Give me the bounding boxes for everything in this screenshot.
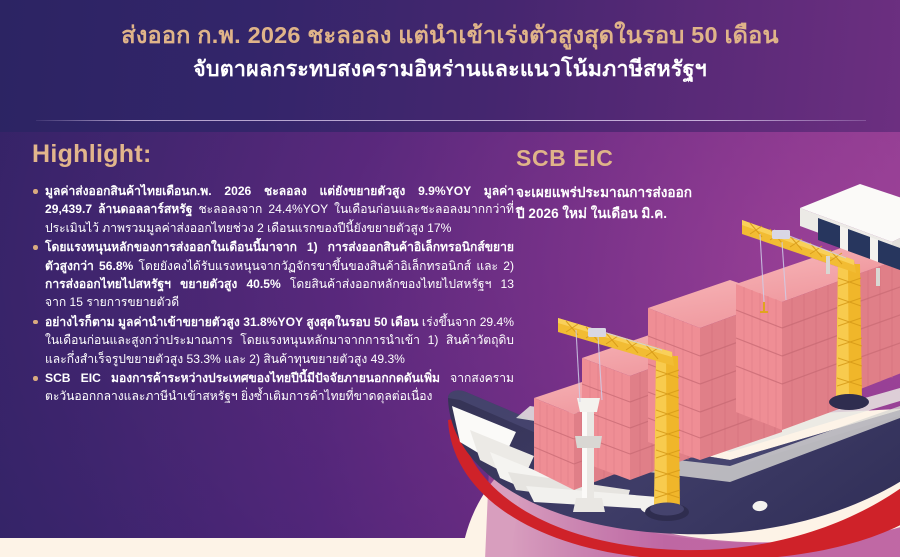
scb-eic-subtitle: จะเผยแพร่ประมาณการส่งออก ปี 2026 ใหม่ ใน… [516, 182, 776, 224]
scb-eic-subtitle-line-2: ปี 2026 ใหม่ ในเดือน มิ.ค. [516, 203, 776, 224]
emphasis-text: อย่างไรก็ตาม มูลค่านำเข้าขยายตัวสูง 31.8… [45, 315, 418, 329]
title-line-1: ส่งออก ก.พ. 2026 ชะลอลง แต่นำเข้าเร่งตัว… [0, 18, 900, 52]
list-item: โดยแรงหนุนหลักของการส่งออกในเดือนนี้มาจา… [32, 238, 514, 312]
scb-eic-subtitle-line-1: จะเผยแพร่ประมาณการส่งออก [516, 182, 776, 203]
emphasis-text: การส่งออกไทยไปสหรัฐฯ ขยายตัวสูง 40.5% [45, 277, 281, 291]
list-item: อย่างไรก็ตาม มูลค่านำเข้าขยายตัวสูง 31.8… [32, 313, 514, 368]
highlight-section: Highlight: มูลค่าส่งออกสินค้าไทยเดือนก.พ… [32, 140, 514, 407]
scb-eic-title: SCB EIC [516, 145, 776, 172]
body-text: โดยยังคงได้รับแรงหนุนจากวัฏจักรขาขึ้นของ… [133, 259, 514, 273]
list-item: มูลค่าส่งออกสินค้าไทยเดือนก.พ. 2026 ชะลอ… [32, 182, 514, 237]
title-line-2: จับตาผลกระทบสงครามอิหร่านและแนวโน้มภาษีส… [0, 52, 900, 86]
highlight-heading: Highlight: [32, 140, 514, 169]
scb-eic-section: SCB EIC จะเผยแพร่ประมาณการส่งออก ปี 2026… [516, 145, 776, 224]
highlight-bullet-list: มูลค่าส่งออกสินค้าไทยเดือนก.พ. 2026 ชะลอ… [32, 182, 514, 406]
page-title: ส่งออก ก.พ. 2026 ชะลอลง แต่นำเข้าเร่งตัว… [0, 18, 900, 86]
header-divider [36, 120, 866, 121]
list-item: SCB EIC มองการค้าระหว่างประเทศของไทยปีนี… [32, 369, 514, 406]
infographic-canvas: ส่งออก ก.พ. 2026 ชะลอลง แต่นำเข้าเร่งตัว… [0, 0, 900, 557]
emphasis-text: SCB EIC มองการค้าระหว่างประเทศของไทยปีนี… [45, 371, 440, 385]
